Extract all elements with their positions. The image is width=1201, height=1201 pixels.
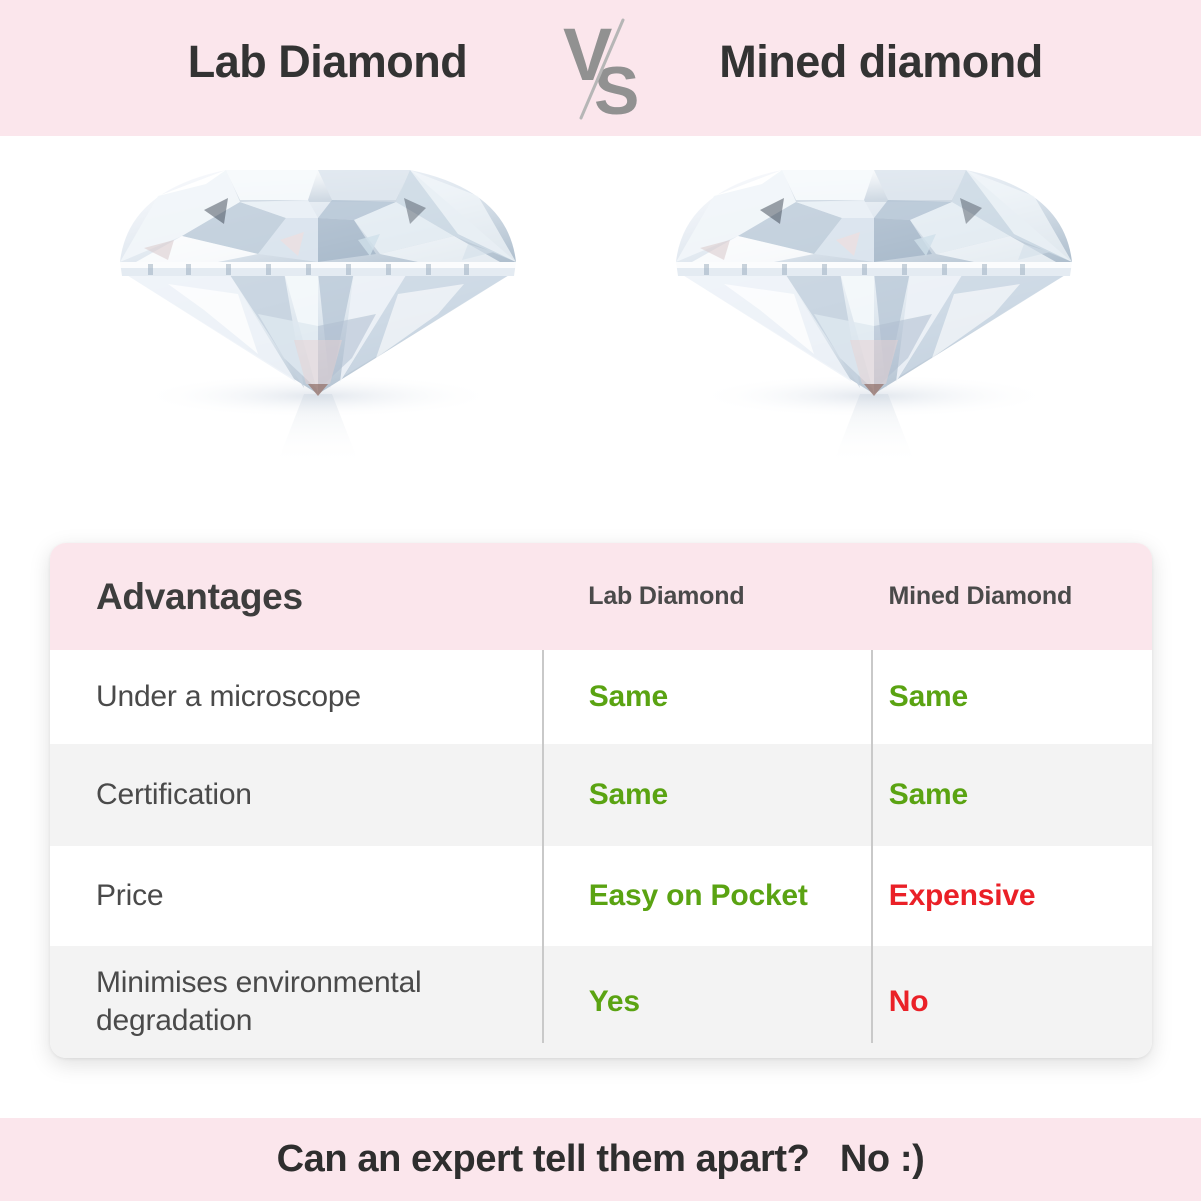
row-value-mined: Expensive: [837, 879, 1152, 913]
footer-question: Can an expert tell them apart? No :): [277, 1138, 925, 1181]
row-value-lab: Yes: [521, 985, 837, 1019]
row-label: Price: [50, 877, 521, 915]
row-value-mined: Same: [837, 778, 1152, 812]
header-band: Lab Diamond Mined diamond V S: [0, 0, 1201, 136]
row-value-mined: No: [837, 985, 1152, 1019]
column-header-lab-diamond: Lab Diamond: [520, 582, 836, 611]
row-label: Certification: [50, 776, 521, 814]
svg-text:S: S: [594, 53, 639, 124]
infographic-root: Lab Diamond Mined diamond V S: [0, 0, 1201, 1201]
vs-badge: V S: [547, 14, 657, 124]
row-value-lab: Easy on Pocket: [521, 879, 837, 913]
table-row: Minimises environmental degradation Yes …: [50, 946, 1152, 1058]
diamond-stage: [0, 136, 1201, 536]
row-label: Under a microscope: [50, 678, 521, 716]
table-row: Under a microscope Same Same: [50, 650, 1152, 744]
lab-diamond-image: [108, 144, 528, 474]
comparison-table-card: Advantages Lab Diamond Mined Diamond Und…: [50, 543, 1152, 1058]
footer-band: Can an expert tell them apart? No :): [0, 1118, 1201, 1201]
row-value-lab: Same: [521, 778, 837, 812]
column-header-advantages: Advantages: [50, 576, 520, 618]
column-header-mined-diamond: Mined Diamond: [837, 582, 1152, 611]
row-value-mined: Same: [837, 680, 1152, 714]
table-row: Price Easy on Pocket Expensive: [50, 846, 1152, 946]
mined-diamond-image: [664, 144, 1084, 474]
vs-icon: V S: [547, 14, 657, 124]
table-header-row: Advantages Lab Diamond Mined Diamond: [50, 543, 1152, 650]
row-label: Minimises environmental degradation: [50, 964, 521, 1041]
table-row: Certification Same Same: [50, 744, 1152, 846]
row-value-lab: Same: [521, 680, 837, 714]
